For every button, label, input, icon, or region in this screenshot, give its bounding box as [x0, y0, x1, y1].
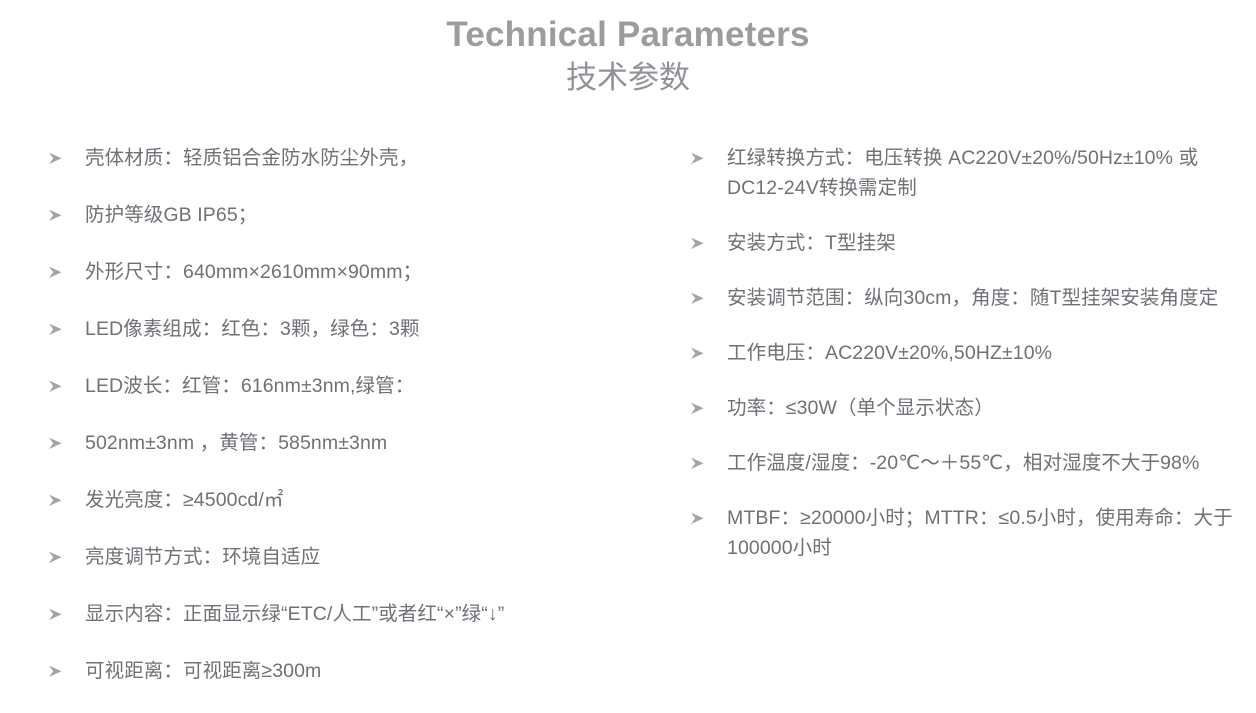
arrow-head-bullet-icon: [48, 314, 72, 336]
spec-item-left-1: 防护等级GB IP65；: [48, 200, 648, 230]
page-title-chinese: 技术参数: [0, 58, 1256, 98]
spec-columns: 壳体材质：轻质铝合金防水防尘外壳， 防护等级GB IP65； 外形尺寸：640m…: [0, 143, 1256, 703]
spec-list-left: 壳体材质：轻质铝合金防水防尘外壳， 防护等级GB IP65； 外形尺寸：640m…: [48, 143, 648, 686]
spec-item-text: 功率：≤30W（单个显示状态）: [727, 393, 1242, 423]
arrow-head-bullet-icon: [690, 283, 714, 305]
spec-item-text: 安装方式：T型挂架: [727, 228, 1242, 258]
arrow-head-bullet-icon: [690, 338, 714, 360]
spec-item-text: 红绿转换方式：电压转换 AC220V±20%/50Hz±10% 或DC12-24…: [727, 143, 1242, 203]
arrow-head-bullet-icon: [48, 143, 72, 165]
spec-item-left-7: 亮度调节方式：环境自适应: [48, 542, 648, 572]
page-title-english: Technical Parameters: [0, 14, 1256, 56]
spec-item-text: 工作电压：AC220V±20%,50HZ±10%: [727, 338, 1242, 368]
spec-item-right-1: 安装方式：T型挂架: [690, 228, 1242, 258]
arrow-head-bullet-icon: [48, 599, 72, 621]
arrow-head-bullet-icon: [48, 485, 72, 507]
spec-item-text: 壳体材质：轻质铝合金防水防尘外壳，: [85, 143, 648, 173]
arrow-head-bullet-icon: [690, 143, 714, 165]
spec-item-left-2: 外形尺寸：640mm×2610mm×90mm；: [48, 257, 648, 287]
spec-column-left: 壳体材质：轻质铝合金防水防尘外壳， 防护等级GB IP65； 外形尺寸：640m…: [48, 143, 648, 713]
spec-item-text: 工作温度/湿度：-20℃～＋55℃，相对湿度不大于98%: [727, 448, 1242, 478]
spec-item-right-2: 安装调节范围：纵向30cm，角度：随T型挂架安装角度定: [690, 283, 1242, 313]
spec-item-right-4: 功率：≤30W（单个显示状态）: [690, 393, 1242, 423]
spec-item-left-6: 发光亮度：≥4500cd/㎡: [48, 485, 648, 515]
page-title-block: Technical Parameters 技术参数: [0, 14, 1256, 98]
spec-item-right-3: 工作电压：AC220V±20%,50HZ±10%: [690, 338, 1242, 368]
spec-item-text: MTBF：≥20000小时；MTTR：≤0.5小时，使用寿命：大于100000小…: [727, 503, 1242, 563]
arrow-head-bullet-icon: [48, 542, 72, 564]
spec-item-left-4: LED波长：红管：616nm±3nm,绿管：: [48, 371, 648, 401]
spec-item-right-5: 工作温度/湿度：-20℃～＋55℃，相对湿度不大于98%: [690, 448, 1242, 478]
spec-item-left-3: LED像素组成：红色：3颗，绿色：3颗: [48, 314, 648, 344]
spec-item-text: 显示内容：正面显示绿“ETC/人工”或者红“×”绿“↓”: [85, 599, 648, 629]
spec-item-right-6: MTBF：≥20000小时；MTTR：≤0.5小时，使用寿命：大于100000小…: [690, 503, 1242, 563]
arrow-head-bullet-icon: [48, 428, 72, 450]
spec-item-right-0: 红绿转换方式：电压转换 AC220V±20%/50Hz±10% 或DC12-24…: [690, 143, 1242, 203]
spec-list-right: 红绿转换方式：电压转换 AC220V±20%/50Hz±10% 或DC12-24…: [690, 143, 1242, 563]
spec-item-text: 亮度调节方式：环境自适应: [85, 542, 648, 572]
spec-item-text: 外形尺寸：640mm×2610mm×90mm；: [85, 257, 648, 287]
arrow-head-bullet-icon: [690, 448, 714, 470]
spec-item-left-5: 502nm±3nm ，黄管：585nm±3nm: [48, 428, 648, 458]
arrow-head-bullet-icon: [690, 228, 714, 250]
spec-item-text: 可视距离：可视距离≥300m: [85, 656, 648, 686]
spec-item-text: 发光亮度：≥4500cd/㎡: [85, 485, 648, 515]
arrow-head-bullet-icon: [48, 200, 72, 222]
spec-item-text: 502nm±3nm ，黄管：585nm±3nm: [85, 428, 648, 458]
technical-parameters-page: Technical Parameters 技术参数 壳体材质：轻质铝合金防水防尘…: [0, 0, 1256, 702]
spec-item-text: LED波长：红管：616nm±3nm,绿管：: [85, 371, 648, 401]
spec-item-left-9: 可视距离：可视距离≥300m: [48, 656, 648, 686]
spec-item-text: LED像素组成：红色：3颗，绿色：3颗: [85, 314, 648, 344]
arrow-head-bullet-icon: [48, 257, 72, 279]
spec-item-left-8: 显示内容：正面显示绿“ETC/人工”或者红“×”绿“↓”: [48, 599, 648, 629]
spec-item-text: 安装调节范围：纵向30cm，角度：随T型挂架安装角度定: [727, 283, 1242, 313]
arrow-head-bullet-icon: [48, 656, 72, 678]
spec-column-right: 红绿转换方式：电压转换 AC220V±20%/50Hz±10% 或DC12-24…: [690, 143, 1242, 588]
arrow-head-bullet-icon: [690, 393, 714, 415]
arrow-head-bullet-icon: [690, 503, 714, 525]
spec-item-text: 防护等级GB IP65；: [85, 200, 648, 230]
spec-item-left-0: 壳体材质：轻质铝合金防水防尘外壳，: [48, 143, 648, 173]
arrow-head-bullet-icon: [48, 371, 72, 393]
